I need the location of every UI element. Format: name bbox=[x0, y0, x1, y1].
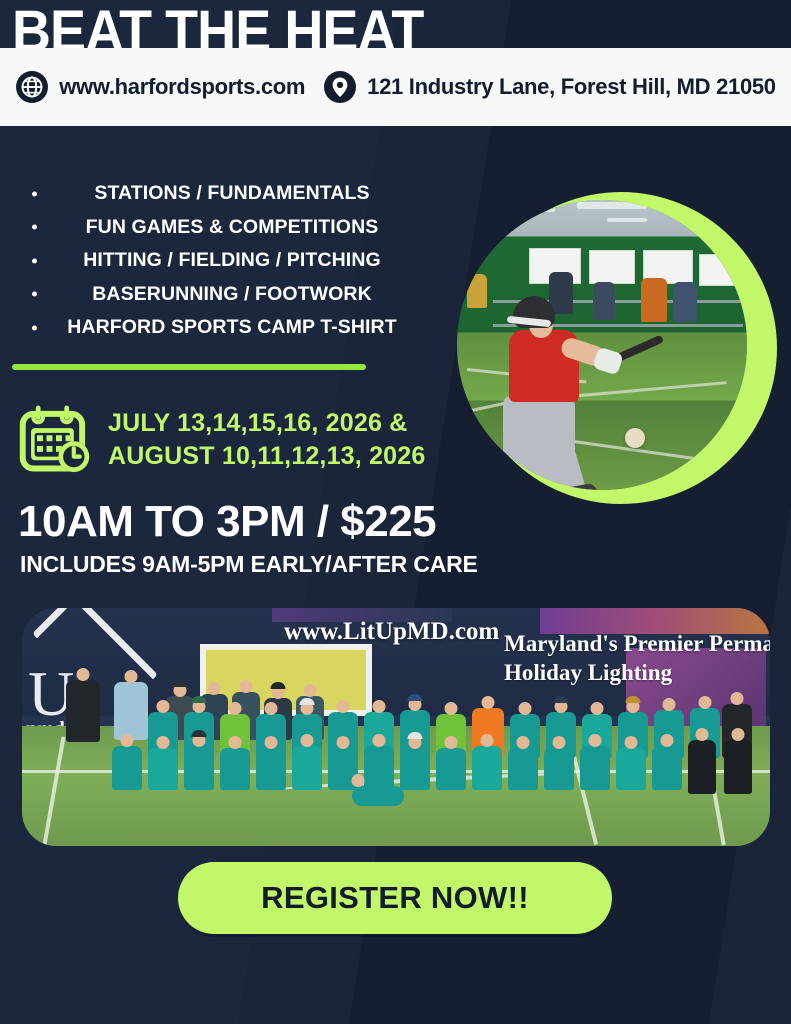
batter-leg bbox=[539, 446, 587, 490]
calendar-clock-icon bbox=[18, 404, 94, 476]
camp-dates-text: JULY 13,14,15,16, 2026 & AUGUST 10,11,12… bbox=[108, 407, 426, 473]
contact-footer: www.harfordsports.com 121 Industry Lane,… bbox=[0, 48, 791, 126]
list-item: STATIONS / FUNDAMENTALS bbox=[20, 184, 420, 204]
flyer-poster: BEAT THE HEAT SUMMER BASEBALL CAMPS STAT… bbox=[0, 0, 791, 1024]
feature-list: STATIONS / FUNDAMENTALS FUN GAMES & COMP… bbox=[20, 184, 420, 352]
baseball-icon bbox=[625, 428, 645, 448]
feature-label: BASERUNNING / FOOTWORK bbox=[92, 283, 372, 305]
list-item: FUN GAMES & COMPETITIONS bbox=[20, 218, 420, 238]
website-text: www.harfordsports.com bbox=[59, 74, 305, 100]
camp-dates-line-2: AUGUST 10,11,12,13, 2026 bbox=[108, 440, 426, 473]
bullet-dot-icon bbox=[32, 325, 37, 330]
feature-label: HITTING / FIELDING / PITCHING bbox=[83, 249, 381, 271]
bullet-dot-icon bbox=[32, 225, 37, 230]
list-item: HARFORD SPORTS CAMP T-SHIRT bbox=[20, 318, 420, 338]
register-now-button[interactable]: REGISTER NOW!! bbox=[178, 862, 612, 934]
camper-group bbox=[22, 608, 770, 846]
bullet-dot-icon bbox=[32, 292, 37, 297]
address-text: 121 Industry Lane, Forest Hill, MD 21050 bbox=[367, 74, 776, 100]
camp-dates-block: JULY 13,14,15,16, 2026 & AUGUST 10,11,12… bbox=[18, 404, 426, 476]
price-and-hours: 10AM TO 3PM / $225 bbox=[18, 497, 436, 547]
globe-icon bbox=[15, 70, 49, 104]
feature-label: FUN GAMES & COMPETITIONS bbox=[86, 216, 379, 238]
feature-label: STATIONS / FUNDAMENTALS bbox=[94, 182, 369, 204]
list-item: HITTING / FIELDING / PITCHING bbox=[20, 251, 420, 271]
batter-glove bbox=[592, 347, 624, 376]
group-photo: U pmd www.LitUpMD.com Maryland's Premier… bbox=[22, 608, 770, 846]
section-divider bbox=[12, 364, 366, 370]
care-hours-note: INCLUDES 9AM-5PM EARLY/AFTER CARE bbox=[20, 551, 478, 578]
feature-label: HARFORD SPORTS CAMP T-SHIRT bbox=[67, 316, 397, 338]
website-contact[interactable]: www.harfordsports.com bbox=[15, 70, 305, 104]
list-item: BASERUNNING / FOOTWORK bbox=[20, 285, 420, 305]
camp-dates-line-1: JULY 13,14,15,16, 2026 & bbox=[108, 407, 426, 440]
indoor-cage-scene bbox=[457, 200, 747, 490]
address-contact[interactable]: 121 Industry Lane, Forest Hill, MD 21050 bbox=[323, 70, 776, 104]
batter-photo-image bbox=[457, 200, 747, 490]
bullet-dot-icon bbox=[32, 191, 37, 196]
location-pin-icon bbox=[323, 70, 357, 104]
batter-circle-photo bbox=[465, 192, 777, 504]
bullet-dot-icon bbox=[32, 258, 37, 263]
